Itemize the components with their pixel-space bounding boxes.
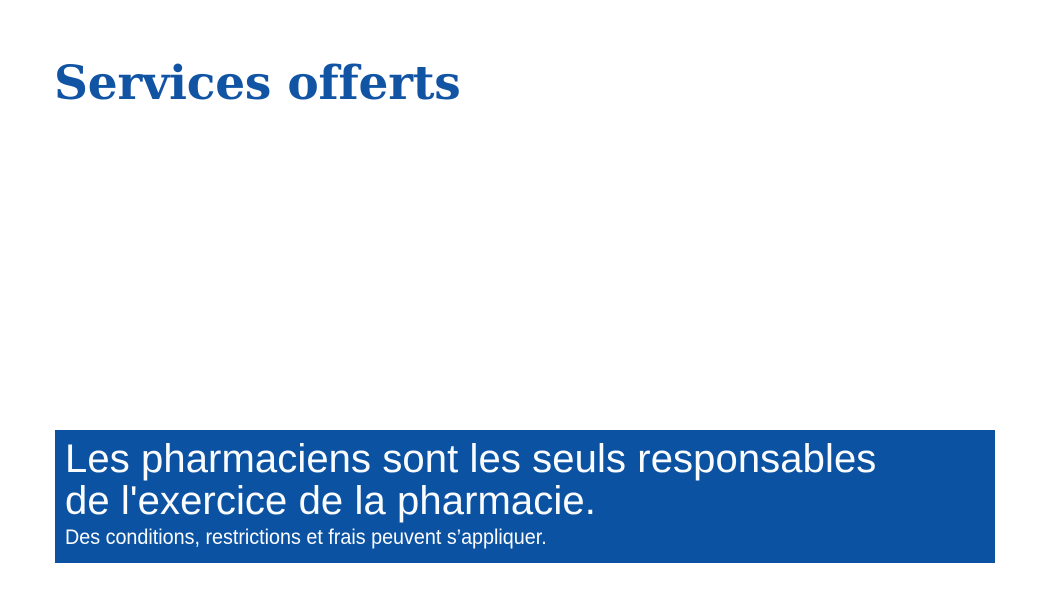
slide: Services offerts Les pharmaciens sont le… (0, 0, 1050, 600)
callout-main-text: Les pharmaciens sont les seuls responsab… (65, 438, 985, 522)
slide-content-area (55, 130, 995, 425)
callout-banner: Les pharmaciens sont les seuls responsab… (55, 430, 995, 563)
callout-subtitle: Des conditions, restrictions et frais pe… (65, 526, 930, 550)
callout-main-line-2: de l'exercice de la pharmacie. (65, 480, 985, 522)
callout-main-line-1: Les pharmaciens sont les seuls responsab… (65, 438, 985, 480)
page-title: Services offerts (54, 59, 461, 109)
